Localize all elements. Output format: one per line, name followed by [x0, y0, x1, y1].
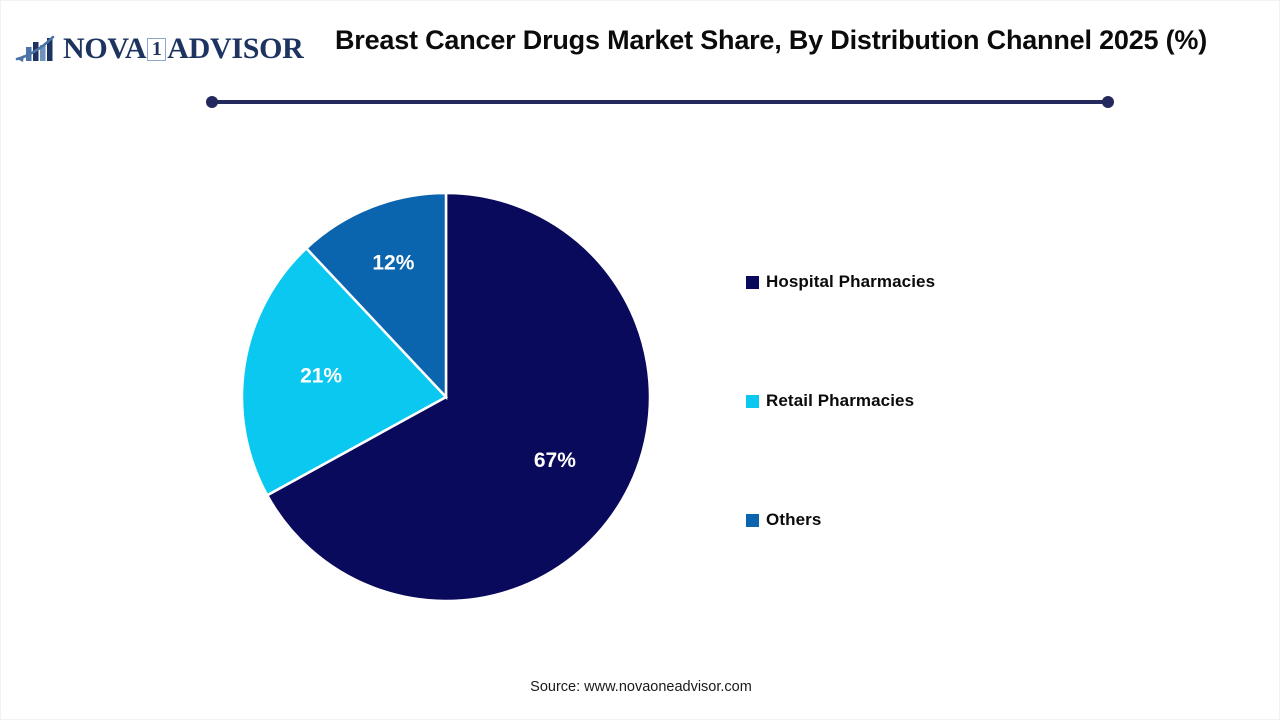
- divider-dot-right: [1102, 96, 1114, 108]
- chart-page: NOVA 1 ADVISOR Breast Cancer Drugs Marke…: [0, 0, 1280, 720]
- legend-label: Hospital Pharmacies: [766, 272, 935, 292]
- pie-chart: 67%21%12%: [241, 192, 651, 602]
- legend-item[interactable]: Retail Pharmacies: [746, 388, 1146, 414]
- legend-label: Others: [766, 510, 821, 530]
- chart-legend: Hospital PharmaciesRetail PharmaciesOthe…: [746, 269, 1146, 533]
- legend-swatch: [746, 514, 759, 527]
- pie-slice-label: 21%: [300, 365, 342, 388]
- pie-slice-label: 12%: [372, 252, 414, 275]
- divider-dot-left: [206, 96, 218, 108]
- legend-label: Retail Pharmacies: [766, 391, 914, 411]
- brand-name-part2: ADVISOR: [167, 34, 303, 64]
- legend-swatch: [746, 395, 759, 408]
- title-divider: [212, 100, 1108, 104]
- brand-logo: NOVA 1 ADVISOR: [15, 29, 304, 69]
- brand-name-part1: NOVA: [63, 34, 146, 64]
- legend-swatch: [746, 276, 759, 289]
- pie-slice-label: 67%: [534, 449, 576, 472]
- pie-slices: [242, 193, 650, 601]
- divider-line: [212, 100, 1108, 104]
- page-title: Breast Cancer Drugs Market Share, By Dis…: [301, 19, 1241, 63]
- brand-name-badge: 1: [147, 38, 166, 61]
- legend-item[interactable]: Others: [746, 507, 1146, 533]
- brand-wordmark: NOVA 1 ADVISOR: [63, 34, 304, 64]
- source-note: Source: www.novaoneadvisor.com: [1, 679, 1280, 695]
- pie-chart-svg: 67%21%12%: [241, 192, 651, 602]
- bar-chart-swoosh-icon: [15, 33, 61, 65]
- legend-item[interactable]: Hospital Pharmacies: [746, 269, 1146, 295]
